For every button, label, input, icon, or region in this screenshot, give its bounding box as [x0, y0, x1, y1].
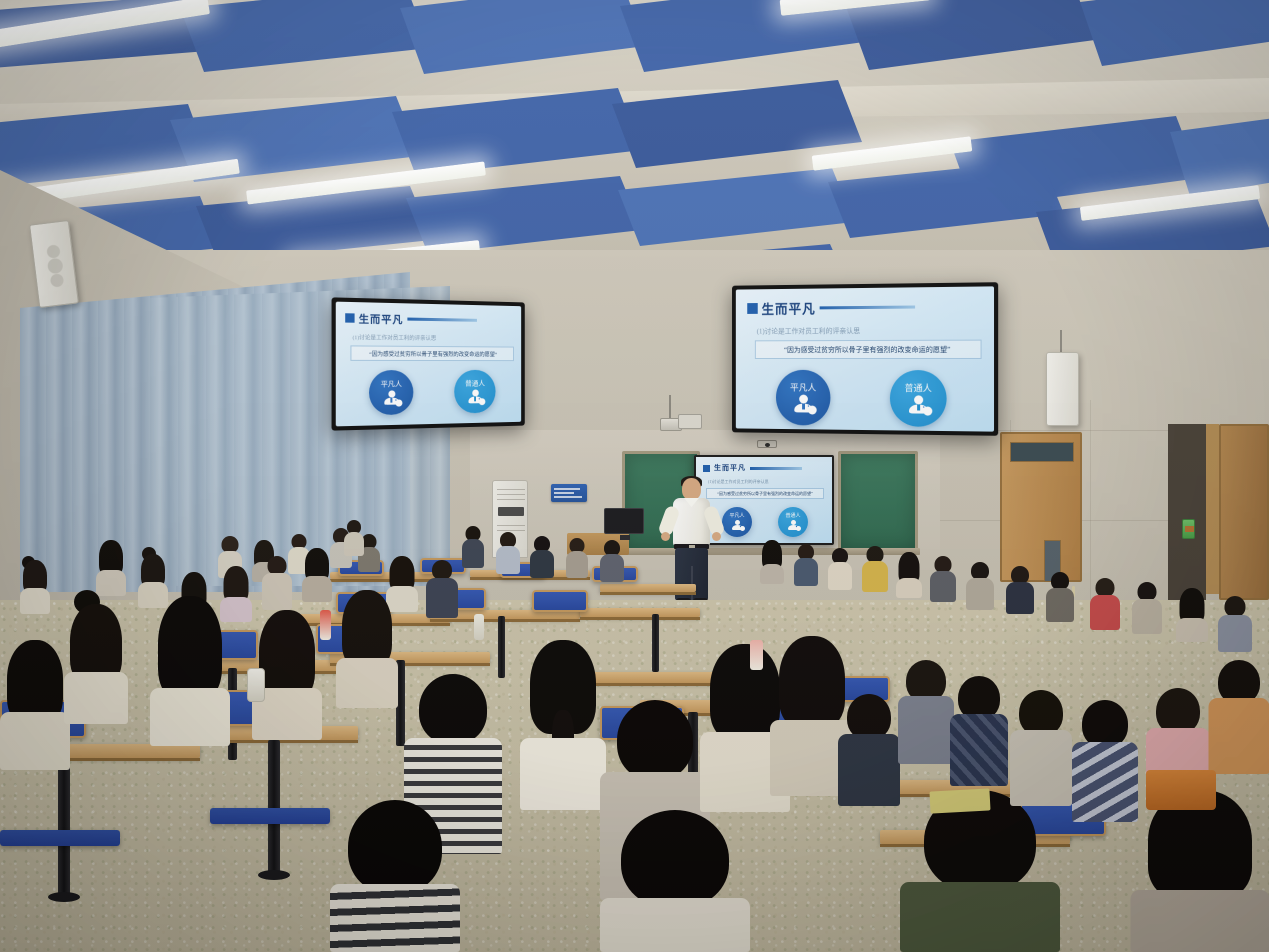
ceiling-panel: [1080, 0, 1269, 66]
student: [838, 694, 900, 806]
lecturer-hand-left: [661, 532, 670, 541]
slide-quote: “因为感受过贫穷所以骨子里有强烈的改变命运的愿望”: [350, 345, 513, 361]
slide-bubble-2-label: 普通人: [465, 380, 485, 387]
backpack: [1146, 770, 1216, 810]
student: [600, 540, 624, 582]
slide-bubble-2-label: 普通人: [904, 384, 931, 393]
student: [966, 562, 994, 610]
wall-camera: [757, 440, 777, 448]
notebook: [929, 788, 990, 813]
ceiling-panel: [828, 160, 1064, 238]
slide-bubble-1-label: 平凡人: [381, 381, 402, 388]
lecturer-hand-right: [712, 532, 721, 541]
student: [1072, 700, 1138, 822]
slide-bubble-1: 平凡人: [776, 370, 830, 426]
student: [896, 552, 922, 598]
student: [828, 548, 852, 590]
student: [1046, 572, 1074, 622]
student: [794, 544, 818, 586]
slide-bubble-2: 普通人: [778, 507, 808, 537]
ceiling-speaker-right: [1046, 352, 1079, 426]
classroom-door-right-2[interactable]: [1219, 424, 1269, 600]
student: [950, 676, 1008, 786]
ceiling-panel: [845, 0, 1095, 70]
door-frame: [1205, 424, 1219, 594]
slide-bubble-1-label: 平凡人: [729, 514, 744, 519]
student-foreground: [900, 790, 1060, 952]
projector-rod: [669, 395, 671, 419]
ceiling-panel: [1170, 108, 1269, 196]
door-window: [1010, 442, 1074, 462]
person-check-icon: [906, 395, 930, 413]
student: [1176, 588, 1208, 642]
blackboard-right: [838, 451, 918, 551]
projector-housing: [678, 414, 702, 429]
wall-notice-sign: [551, 484, 587, 502]
student: [566, 538, 588, 578]
water-bottle: [750, 640, 763, 670]
slide-bubble-2-label: 普通人: [785, 514, 800, 519]
person-check-icon: [791, 394, 814, 412]
slide-title: 生而平凡: [714, 463, 746, 473]
person-check-icon: [382, 390, 401, 404]
slide-quote: “因为感受过贫穷所以骨子里有强烈的改变命运的愿望”: [706, 488, 824, 499]
slide-bubble-2: 普通人: [454, 370, 495, 414]
student: [760, 540, 784, 584]
student: [302, 548, 332, 602]
student: [20, 560, 50, 614]
right-projection-screen[interactable]: 生而平凡 (1)讨论是工作对员工利的评亲认思 “因为感受过贫穷所以骨子里有强烈的…: [732, 282, 998, 436]
student: [1132, 582, 1162, 634]
slide-bubble-2: 普通人: [890, 370, 947, 427]
student: [930, 556, 956, 602]
speaker-mount-rod: [1060, 330, 1062, 354]
student: [64, 600, 128, 724]
classroom-door-right-1[interactable]: [1000, 432, 1082, 582]
student: [1208, 660, 1269, 774]
ceiling-panel: [180, 0, 430, 72]
ceiling-panel: [406, 176, 642, 254]
water-bottle: [320, 610, 331, 640]
person-check-icon: [787, 520, 800, 530]
water-bottle: [474, 614, 484, 640]
student: [344, 520, 364, 556]
podium-monitor: [604, 508, 644, 534]
student: [898, 660, 954, 764]
student-foreground: [1130, 790, 1269, 952]
slide-subtitle: (1)讨论是工作对员工利的评亲认思: [353, 333, 437, 342]
doorway-dark: [1168, 424, 1206, 600]
slide-bubble-1: 平凡人: [369, 370, 413, 415]
slide-rule: [820, 306, 915, 310]
slide-rule: [750, 467, 802, 470]
student: [96, 540, 126, 596]
student-foreground: [600, 810, 750, 952]
student: [1010, 690, 1072, 806]
slide-title: 生而平凡: [359, 310, 404, 326]
slide-subtitle: (1)讨论是工作对员工利的评亲认思: [757, 326, 860, 336]
slide-bullet-square: [747, 303, 758, 314]
student: [336, 590, 398, 708]
student: [862, 546, 888, 592]
lecturer-head: [682, 478, 701, 500]
ac-vent: [498, 507, 524, 516]
slide-bullet-square: [345, 313, 354, 322]
student: [1006, 566, 1034, 614]
slide-left: 生而平凡 (1)讨论是工作对员工利的评亲认思 “因为感受过贫穷所以骨子里有强烈的…: [336, 302, 521, 427]
student-foreground: [330, 800, 460, 952]
speaker-grille: [39, 235, 72, 294]
student: [496, 532, 520, 574]
student: [462, 526, 484, 568]
slide-rule: [407, 318, 477, 322]
slide-bubble-1: 平凡人: [722, 507, 752, 537]
slide-title: 生而平凡: [762, 298, 816, 317]
left-projection-screen[interactable]: 生而平凡 (1)讨论是工作对员工利的评亲认思 “因为感受过贫穷所以骨子里有强烈的…: [332, 297, 525, 430]
person-check-icon: [731, 520, 744, 530]
student: [0, 640, 70, 770]
lecture-hall-photo: 生而平凡 (1)讨论是工作对员工利的评亲认思 “因为感受过贫穷所以骨子里有强烈的…: [0, 0, 1269, 952]
student: [1090, 578, 1120, 630]
student: [426, 560, 458, 618]
tumbler-cup: [247, 668, 265, 702]
student: [262, 556, 292, 610]
person-check-icon: [466, 389, 484, 403]
slide-quote: “因为感受过贫穷所以骨子里有强烈的改变命运的愿望”: [755, 340, 982, 359]
slide-bullet-square: [703, 465, 710, 472]
student: [520, 640, 606, 810]
student: [150, 596, 230, 746]
emergency-exit-sign: [1182, 519, 1195, 539]
ceiling-panel: [618, 168, 854, 246]
slide-right: 生而平凡 (1)讨论是工作对员工利的评亲认思 “因为感受过贫穷所以骨子里有强烈的…: [736, 286, 994, 431]
ceiling-panel: [400, 0, 646, 74]
student: [1218, 596, 1252, 652]
student: [530, 536, 554, 578]
slide-bubble-1-label: 平凡人: [790, 383, 816, 392]
